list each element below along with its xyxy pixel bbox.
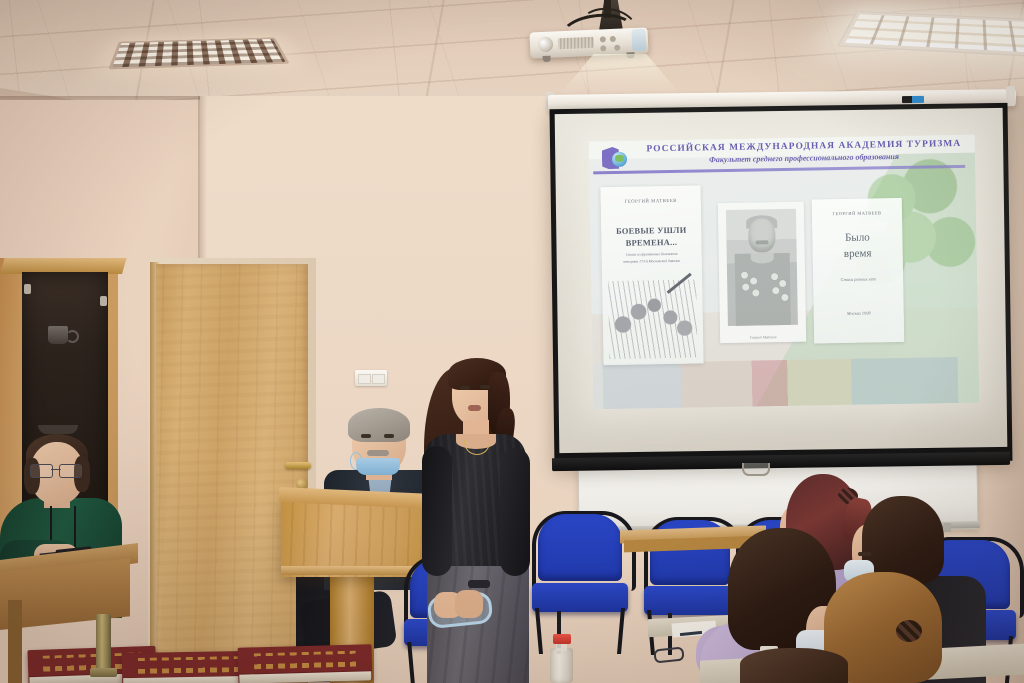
book-left-subtitle-line1: Стихи из фронтовых блокнотов — [602, 251, 702, 257]
commemorative-book[interactable] — [238, 644, 373, 683]
speaker-arm-left — [422, 446, 452, 576]
book-left-title-line1: БОЕВЫЕ УШЛИ — [601, 225, 701, 236]
hair-tie-icon — [896, 620, 922, 642]
chair[interactable] — [532, 514, 628, 654]
academy-logo-icon — [601, 145, 631, 172]
seated-man-eye — [384, 434, 394, 438]
classroom-scene: РОССИЙСКАЯ МЕЖДУНАРОДНАЯ АКАДЕМИЯ ТУРИЗМ… — [0, 0, 1024, 683]
speaker-hand — [455, 590, 483, 618]
book-right-subtitle-line1: Стихи разных лет — [813, 276, 903, 283]
shell-casing-vase[interactable] — [96, 614, 111, 672]
portrait-caption: Георгий Матвеев — [720, 335, 806, 341]
light-switch-icon[interactable] — [355, 370, 387, 386]
screen-pull-handle-icon[interactable] — [742, 463, 770, 476]
seated-man-eye — [361, 434, 371, 438]
shell-casing-base — [90, 668, 117, 677]
cabinet-bowl-icon — [38, 425, 78, 434]
speaker-eye — [480, 385, 490, 389]
door-wood-grain — [156, 264, 308, 683]
seated-man-mustache — [367, 450, 389, 456]
book-left-monument-art — [608, 280, 697, 360]
bottle-cap-icon[interactable] — [553, 634, 571, 644]
door-handle-icon[interactable] — [285, 462, 311, 469]
front-table-leg — [8, 600, 22, 683]
projected-slide: РОССИЙСКАЯ МЕЖДУНАРОДНАЯ АКАДЕМИЯ ТУРИЗМ… — [589, 135, 980, 410]
slide-book-cover-right: ГЕОРГИЙ МАТВЕЕВ Было время Стихи разных … — [812, 198, 904, 344]
book-right-imprint: Москва 1998 — [814, 310, 904, 317]
commemorative-book[interactable] — [122, 651, 255, 683]
audience-member-eye — [858, 552, 871, 556]
face-mask-icon — [356, 458, 400, 475]
cabinet-hinge — [100, 296, 107, 306]
cabinet-hinge — [24, 284, 31, 294]
book-right-title-line1: Было — [812, 231, 902, 245]
cabinet-cup-handle-icon — [66, 330, 79, 343]
cabinet-cup-icon — [48, 326, 68, 344]
wristwatch-icon — [468, 580, 490, 588]
book-right-author: ГЕОРГИЙ МАТВЕЕВ — [812, 210, 902, 217]
book-left-title-line2: ВРЕМЕНА... — [601, 237, 701, 248]
slide-veteran-portrait: Георгий Матвеев — [718, 202, 806, 343]
book-left-author: ГЕОРГИЙ МАТВЕЕВ — [601, 197, 701, 204]
eyeglasses-icon — [30, 464, 82, 476]
slide-background-building — [603, 357, 959, 409]
speaker-arm-right — [500, 448, 530, 576]
book-right-title-line2: время — [813, 247, 903, 261]
screen-brand-badge — [902, 96, 924, 103]
audience-member-hair — [740, 648, 848, 683]
water-bottle[interactable] — [550, 648, 573, 683]
slide-book-cover-left: ГЕОРГИЙ МАТВЕЕВ БОЕВЫЕ УШЛИ ВРЕМЕНА... С… — [600, 185, 703, 365]
book-left-subtitle-line2: ветерана 173-й Московской дивизии — [602, 258, 702, 264]
seated-man-hair — [348, 408, 410, 442]
speaker-mouth — [468, 405, 481, 411]
speaker-eye — [460, 386, 470, 390]
audience-member-hair — [862, 496, 944, 584]
